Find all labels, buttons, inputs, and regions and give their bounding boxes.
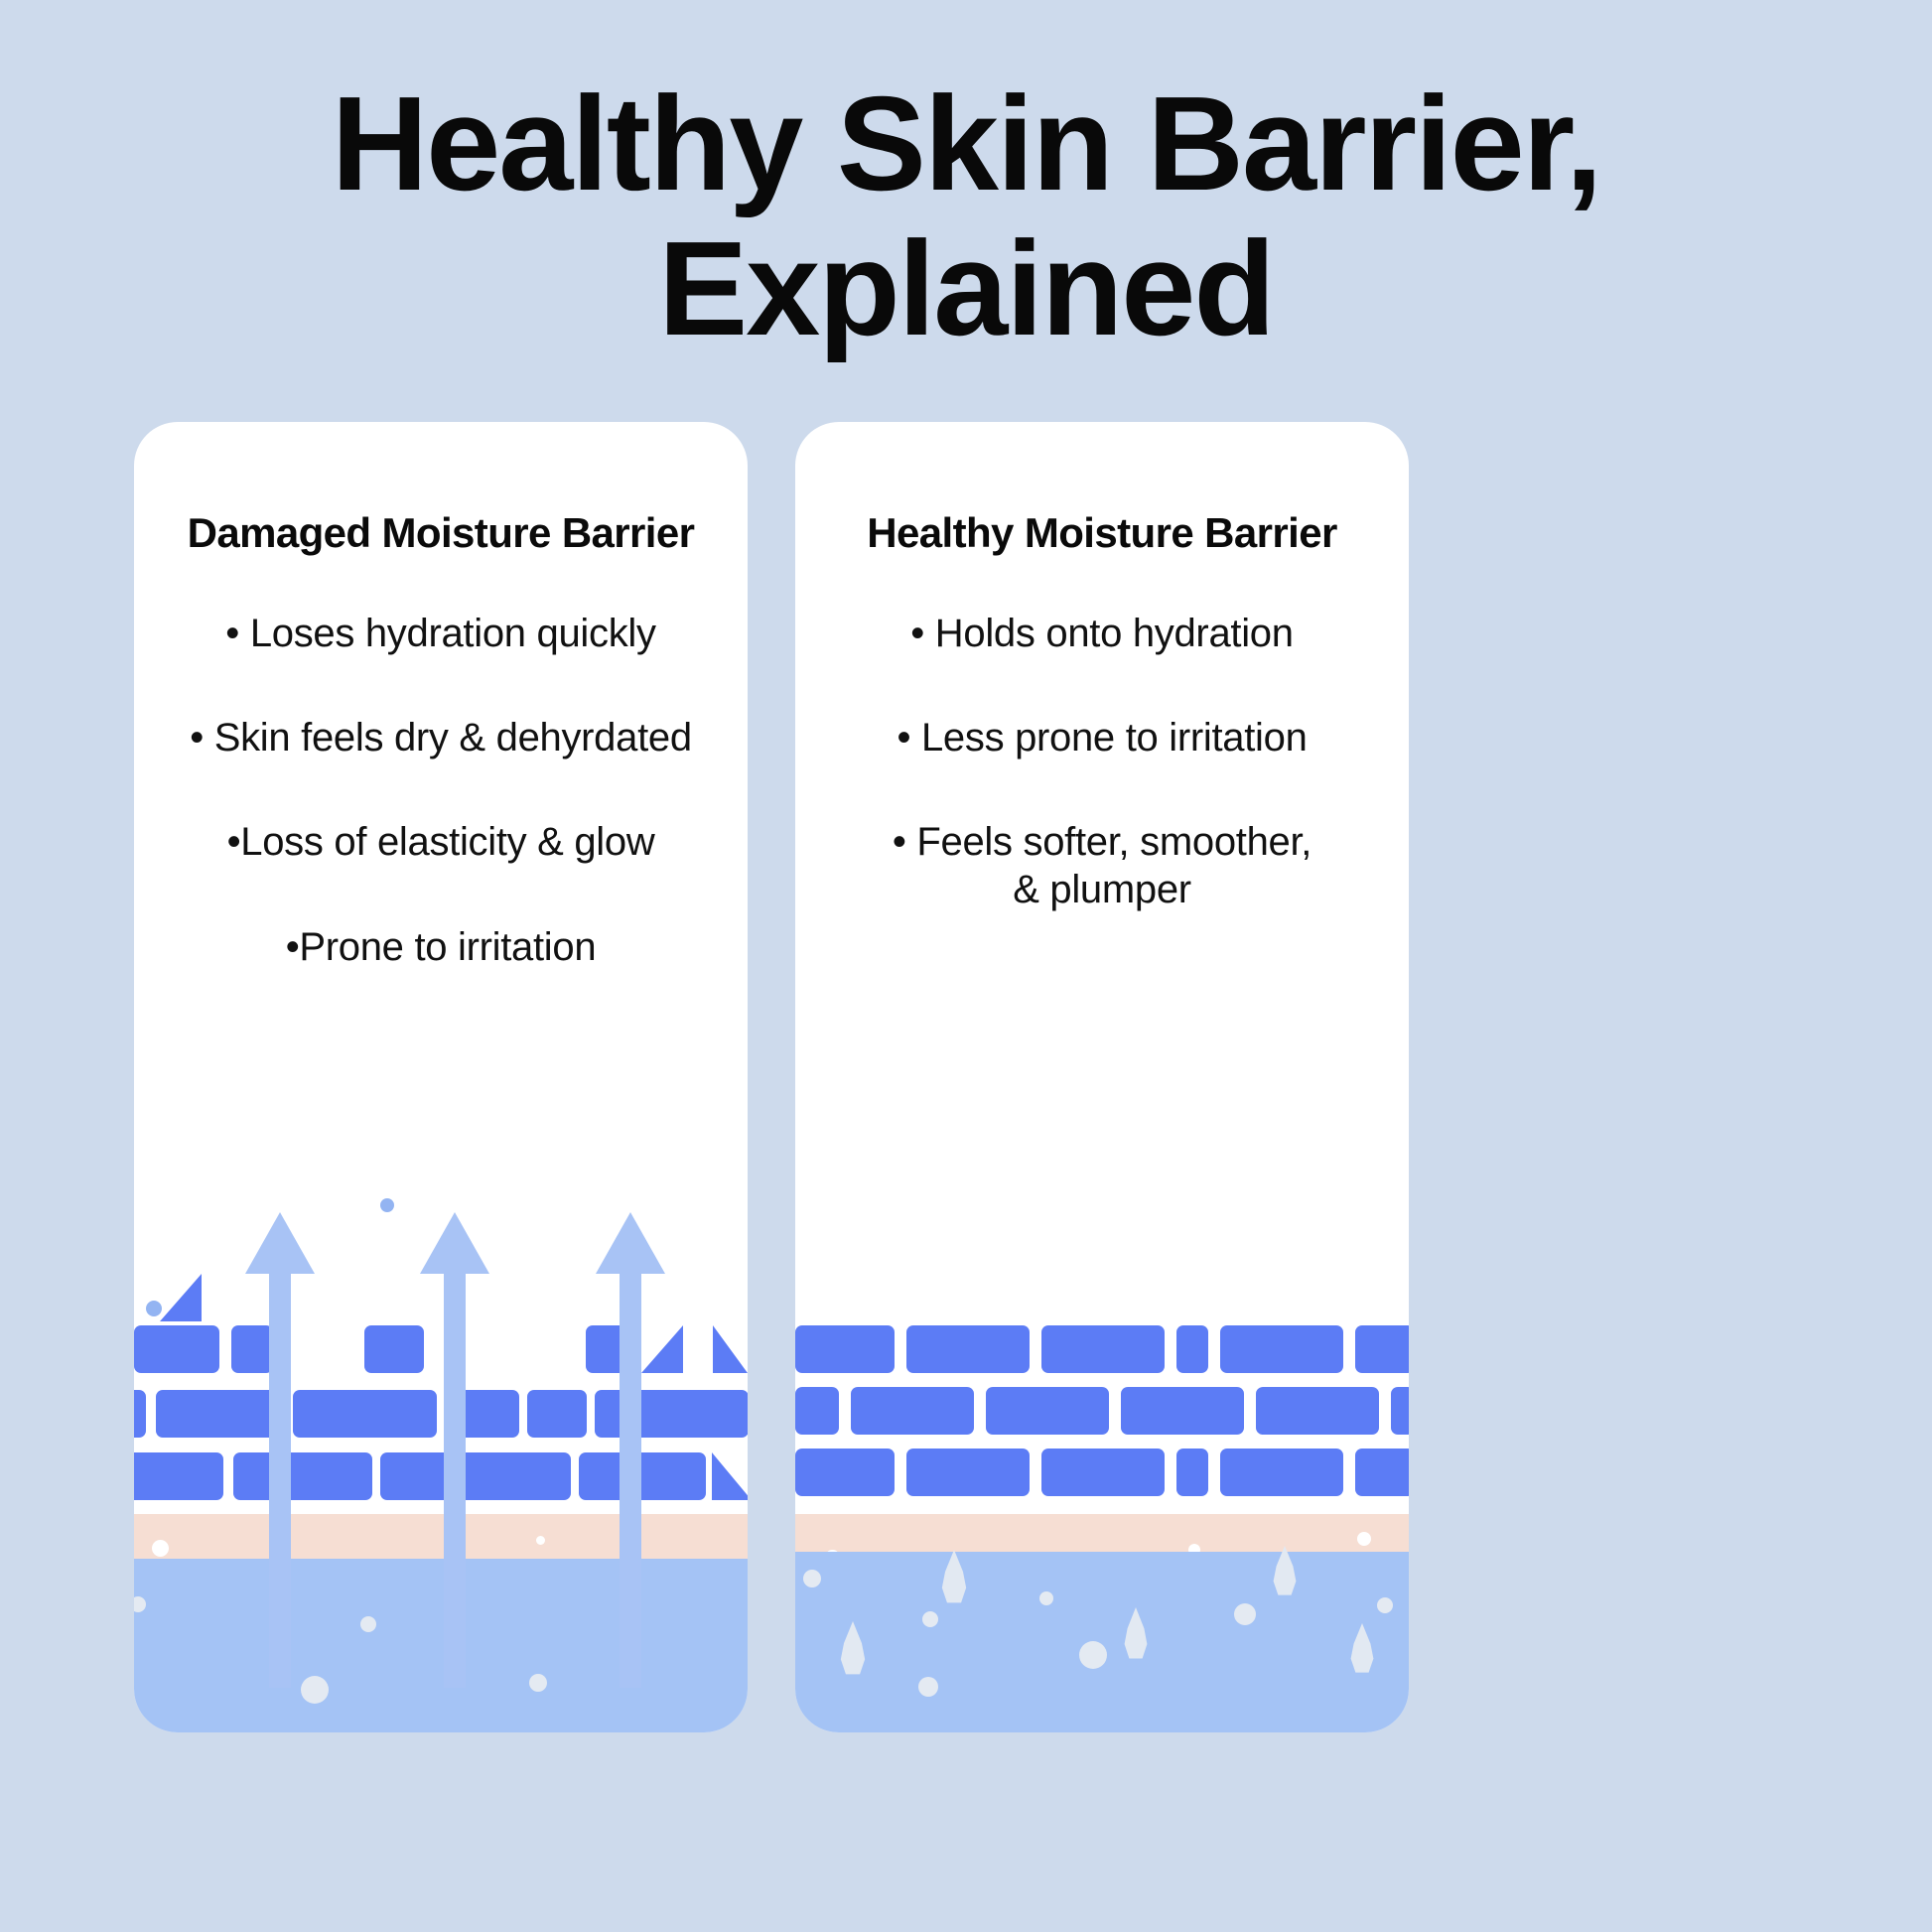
water-speck (918, 1677, 938, 1697)
brick (851, 1387, 974, 1435)
brick (1176, 1449, 1208, 1496)
brick (986, 1387, 1109, 1435)
brick (1256, 1387, 1379, 1435)
moisture-loss-arrow-head (245, 1212, 315, 1274)
brick (1355, 1449, 1409, 1496)
brick (527, 1390, 587, 1438)
brick (1176, 1325, 1208, 1373)
water-speck (1234, 1603, 1256, 1625)
card-healthy-bullets: • Holds onto hydration • Less prone to i… (821, 611, 1383, 971)
brick (233, 1452, 372, 1500)
list-item: • Less prone to irritation (821, 715, 1383, 761)
brick (795, 1449, 895, 1496)
brick (134, 1390, 146, 1438)
moisture-loss-arrow (444, 1266, 466, 1688)
healthy-barrier-illustration (795, 1216, 1409, 1732)
brick (134, 1452, 223, 1500)
debris-dot (146, 1301, 162, 1316)
moisture-speck (1357, 1532, 1371, 1546)
brick (1041, 1325, 1165, 1373)
water-speck (1079, 1641, 1107, 1669)
brick (231, 1325, 273, 1373)
brick (1391, 1387, 1409, 1435)
debris-dot (380, 1198, 394, 1212)
list-item: • Skin feels dry & dehyrdated (160, 715, 722, 761)
water-layer (134, 1559, 748, 1732)
water-droplet (1347, 1623, 1377, 1677)
card-healthy-heading: Healthy Moisture Barrier (795, 509, 1409, 557)
brick (1041, 1449, 1165, 1496)
list-item: • Feels softer, smoother, & plumper (821, 819, 1383, 912)
brick (1355, 1325, 1409, 1373)
water-droplet (1270, 1546, 1300, 1599)
broken-brick-fragment (160, 1274, 202, 1321)
card-healthy-barrier: Healthy Moisture Barrier • Holds onto hy… (795, 422, 1409, 1732)
water-droplet (938, 1550, 970, 1607)
page-title-line-2: Explained (0, 216, 1932, 361)
water-speck (803, 1570, 821, 1587)
comparison-cards: Damaged Moisture Barrier • Loses hydrati… (134, 422, 1798, 1732)
card-damaged-barrier: Damaged Moisture Barrier • Loses hydrati… (134, 422, 748, 1732)
list-item: •Prone to irritation (160, 924, 722, 971)
brick (380, 1452, 571, 1500)
broken-brick-fragment (712, 1452, 748, 1500)
list-item: • Holds onto hydration (821, 611, 1383, 657)
water-layer (795, 1552, 1409, 1732)
card-damaged-bullets: • Loses hydration quickly • Skin feels d… (160, 611, 722, 1029)
list-item: •Loss of elasticity & glow (160, 819, 722, 866)
moisture-loss-arrow (269, 1266, 291, 1688)
brick (595, 1390, 748, 1438)
water-speck (360, 1616, 376, 1632)
water-speck (1039, 1591, 1053, 1605)
brick (1121, 1387, 1244, 1435)
moisture-loss-arrow-head (596, 1212, 665, 1274)
moisture-loss-arrow (620, 1266, 641, 1688)
water-droplet (837, 1621, 869, 1679)
water-droplet (1121, 1607, 1151, 1663)
water-speck (1377, 1597, 1393, 1613)
brick (364, 1325, 424, 1373)
list-item: • Loses hydration quickly (160, 611, 722, 657)
broken-brick-fragment (641, 1325, 683, 1373)
brick (293, 1390, 437, 1438)
infographic-canvas: Healthy Skin Barrier, Explained Damaged … (0, 0, 1932, 1932)
card-damaged-heading: Damaged Moisture Barrier (134, 509, 748, 557)
broken-brick-fragment (713, 1325, 748, 1373)
moisture-loss-arrow-head (420, 1212, 489, 1274)
brick (134, 1325, 219, 1373)
brick (579, 1452, 706, 1500)
water-speck (922, 1611, 938, 1627)
brick (795, 1387, 839, 1435)
brick (1220, 1449, 1343, 1496)
brick (906, 1449, 1030, 1496)
page-title-line-1: Healthy Skin Barrier, (0, 71, 1932, 216)
damaged-barrier-illustration (134, 1216, 748, 1732)
moisture-speck (536, 1536, 545, 1545)
water-speck (134, 1596, 146, 1612)
moisture-speck (152, 1540, 169, 1557)
brick (1220, 1325, 1343, 1373)
water-speck (529, 1674, 547, 1692)
brick (906, 1325, 1030, 1373)
water-speck (301, 1676, 329, 1704)
brick (795, 1325, 895, 1373)
brick (156, 1390, 285, 1438)
page-title: Healthy Skin Barrier, Explained (0, 71, 1932, 361)
